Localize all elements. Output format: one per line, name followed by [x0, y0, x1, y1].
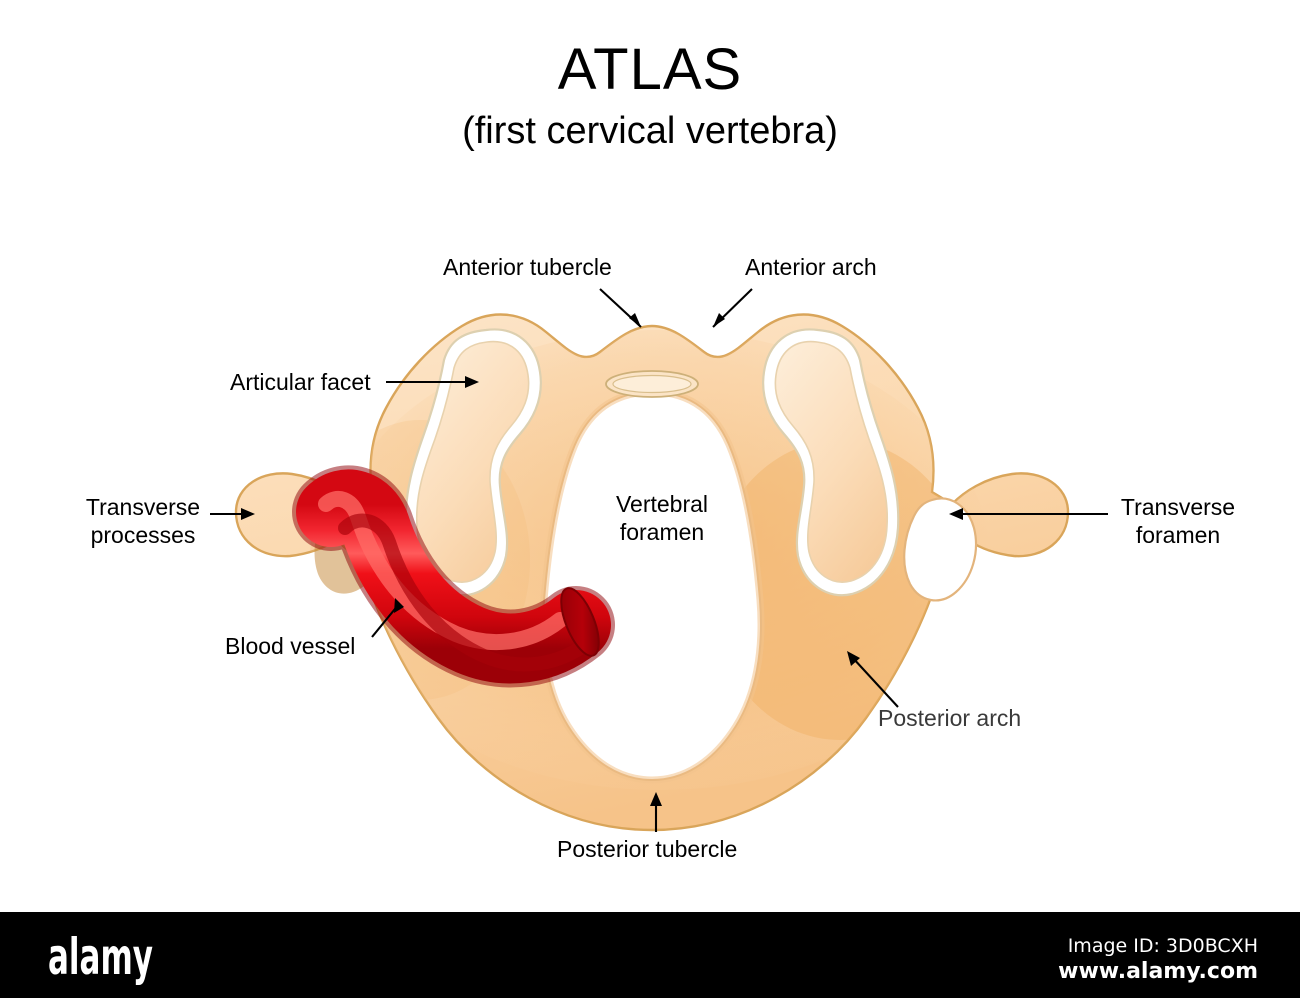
- label-transverse-foramen: Transverse foramen: [1113, 493, 1243, 549]
- fovea-dentis-inner: [613, 376, 691, 393]
- diagram-page: ATLAS (first cervical vertebra): [0, 0, 1300, 998]
- alamy-logo[interactable]: alamy: [48, 932, 153, 982]
- label-posterior-arch: Posterior arch: [878, 704, 1021, 732]
- label-transverse-processes: Transverse processes: [78, 493, 208, 549]
- label-blood-vessel: Blood vessel: [225, 632, 355, 660]
- label-posterior-tubercle: Posterior tubercle: [557, 835, 737, 863]
- alamy-url-text[interactable]: www.alamy.com: [1058, 958, 1258, 985]
- atlas-vertebra-illustration: [0, 0, 1300, 900]
- label-vertebral-foramen: Vertebral foramen: [597, 490, 727, 546]
- leader-anterior-arch: [713, 289, 752, 327]
- label-articular-facet: Articular facet: [230, 368, 371, 396]
- image-id-text: Image ID: 3D0BCXH: [1058, 934, 1258, 958]
- leader-anterior-tubercle: [600, 289, 641, 327]
- watermark-info: Image ID: 3D0BCXH www.alamy.com: [1058, 934, 1258, 985]
- label-anterior-tubercle: Anterior tubercle: [443, 253, 612, 281]
- label-anterior-arch: Anterior arch: [745, 253, 877, 281]
- watermark-bar: alamy Image ID: 3D0BCXH www.alamy.com: [0, 912, 1300, 998]
